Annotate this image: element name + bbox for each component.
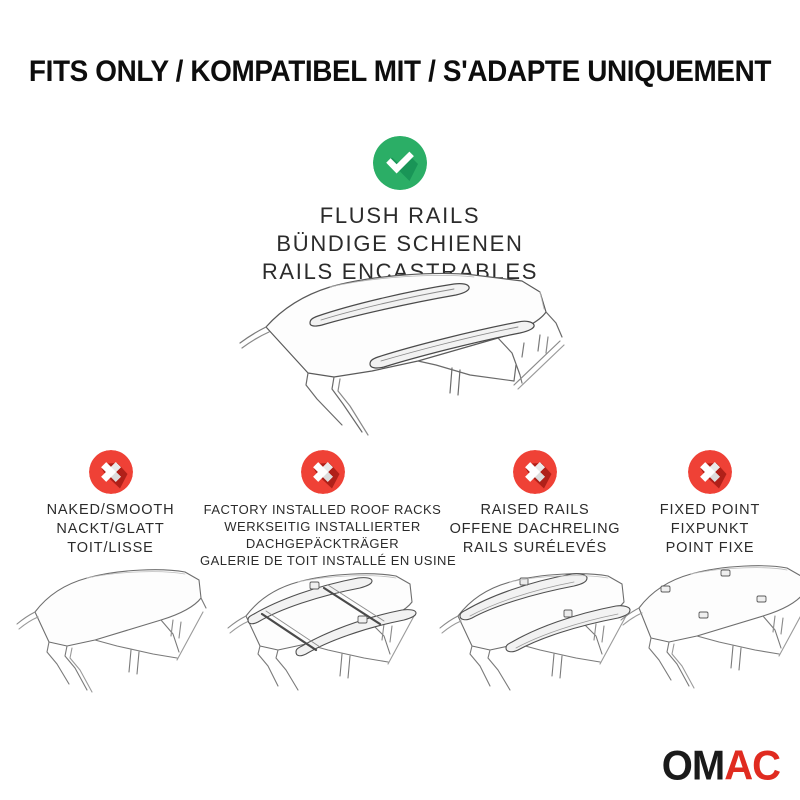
label-de2: DACHGEPÄCKTRÄGER xyxy=(200,535,445,552)
incompatible-section-raised-rails: RAISED RAILS OFFENE DACHRELING RAILS SUR… xyxy=(432,450,638,558)
x-circle-icon xyxy=(89,450,133,494)
label-en: FACTORY INSTALLED ROOF RACKS xyxy=(200,501,445,518)
x-circle-icon xyxy=(301,450,345,494)
incompatible-section-naked-smooth: NAKED/SMOOTH NACKT/GLATT TOIT/LISSE xyxy=(8,450,213,558)
logo-text-accent: AC xyxy=(724,743,780,789)
page-title: FITS ONLY / KOMPATIBEL MIT / S'ADAPTE UN… xyxy=(28,55,772,89)
incompatible-section-fixed-point: FIXED POINT FIXPUNKT POINT FIXE xyxy=(620,450,800,558)
label-de: WERKSEITIG INSTALLIERTER xyxy=(200,518,445,535)
incompatible-section-factory-racks: FACTORY INSTALLED ROOF RACKS WERKSEITIG … xyxy=(200,450,445,570)
incompatible-labels-raised-rails: RAISED RAILS OFFENE DACHRELING RAILS SUR… xyxy=(432,501,638,558)
incompatible-sections: NAKED/SMOOTH NACKT/GLATT TOIT/LISSE xyxy=(0,450,800,700)
x-circle-icon xyxy=(513,450,557,494)
incompatible-labels-naked-smooth: NAKED/SMOOTH NACKT/GLATT TOIT/LISSE xyxy=(8,501,213,558)
label-en: NAKED/SMOOTH xyxy=(8,501,213,520)
label-en: RAISED RAILS xyxy=(432,501,638,520)
check-circle-icon xyxy=(373,136,427,190)
label-en: FIXED POINT xyxy=(620,501,800,520)
compatible-label-de: BÜNDIGE SCHIENEN xyxy=(0,230,800,258)
omac-logo: OMAC xyxy=(662,745,780,787)
compatible-label-en: FLUSH RAILS xyxy=(0,202,800,230)
car-roof-factory-racks-illustration xyxy=(220,554,426,694)
car-roof-flush-rails-illustration xyxy=(222,265,604,445)
label-de: FIXPUNKT xyxy=(620,520,800,539)
compatible-section: FLUSH RAILS BÜNDIGE SCHIENEN RAILS ENCAS… xyxy=(0,136,800,286)
compatible-icon-wrap xyxy=(0,136,800,190)
label-de: OFFENE DACHRELING xyxy=(432,520,638,539)
car-roof-raised-rails-illustration xyxy=(432,554,638,694)
label-de: NACKT/GLATT xyxy=(8,520,213,539)
car-roof-fixed-point-illustration xyxy=(617,550,800,690)
x-circle-icon xyxy=(688,450,732,494)
fitment-compatibility-page: FITS ONLY / KOMPATIBEL MIT / S'ADAPTE UN… xyxy=(0,0,800,800)
car-roof-naked-smooth-illustration xyxy=(13,554,209,694)
logo-text-dark: OM xyxy=(662,743,724,789)
